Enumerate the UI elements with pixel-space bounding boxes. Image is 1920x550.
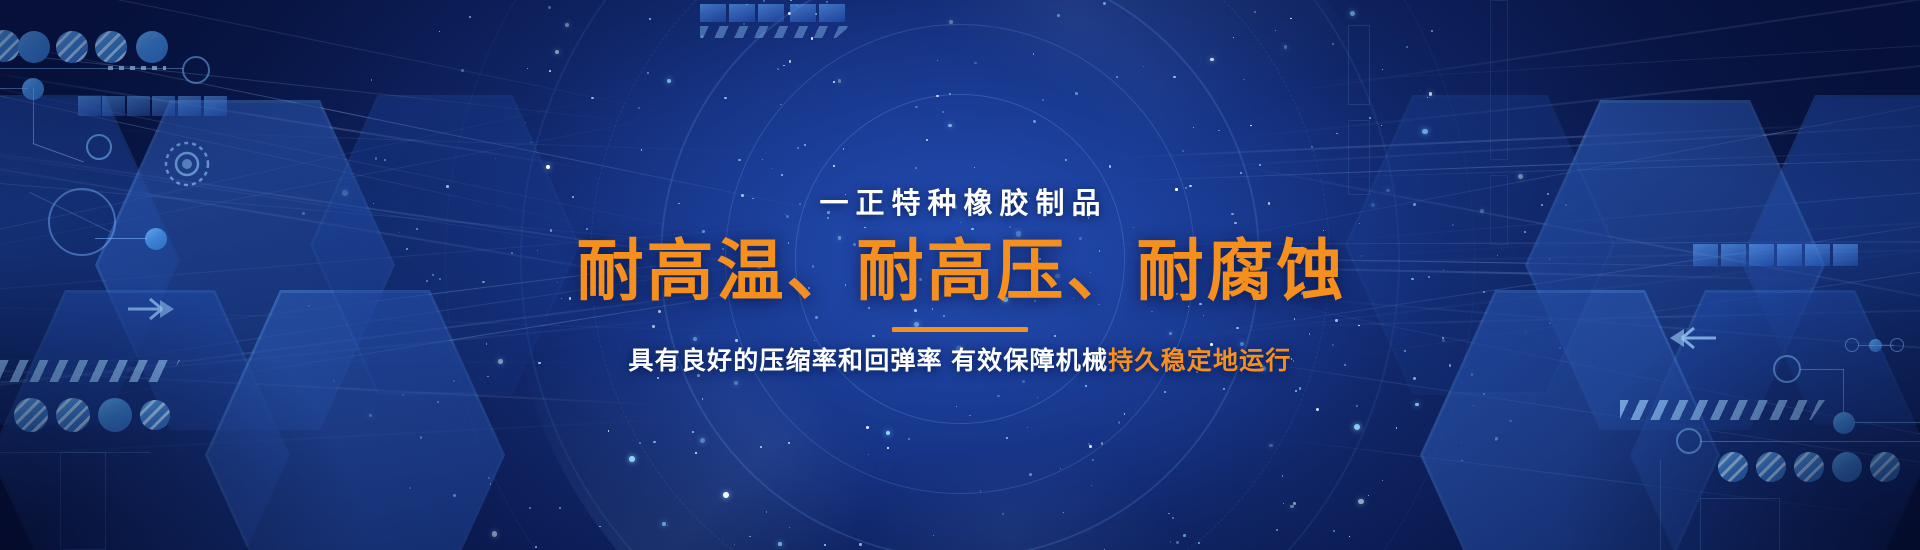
banner-subtitle-orange: 持久稳定地运行 — [1108, 347, 1291, 375]
banner-subtitle-white: 具有良好的压缩率和回弹率 有效保障机械 — [628, 347, 1108, 375]
banner-headline: 耐高温、耐高压、耐腐蚀 — [574, 236, 1347, 307]
hero-banner: 一正特种橡胶制品 耐高温、耐高压、耐腐蚀 具有良好的压缩率和回弹率 有效保障机械… — [0, 0, 1920, 550]
banner-eyebrow: 一正特种橡胶制品 — [812, 190, 1107, 219]
divider-rule — [892, 327, 1028, 332]
banner-subtitle: 具有良好的压缩率和回弹率 有效保障机械持久稳定地运行 — [628, 349, 1291, 374]
banner-content: 一正特种橡胶制品 耐高温、耐高压、耐腐蚀 具有良好的压缩率和回弹率 有效保障机械… — [0, 0, 1920, 550]
